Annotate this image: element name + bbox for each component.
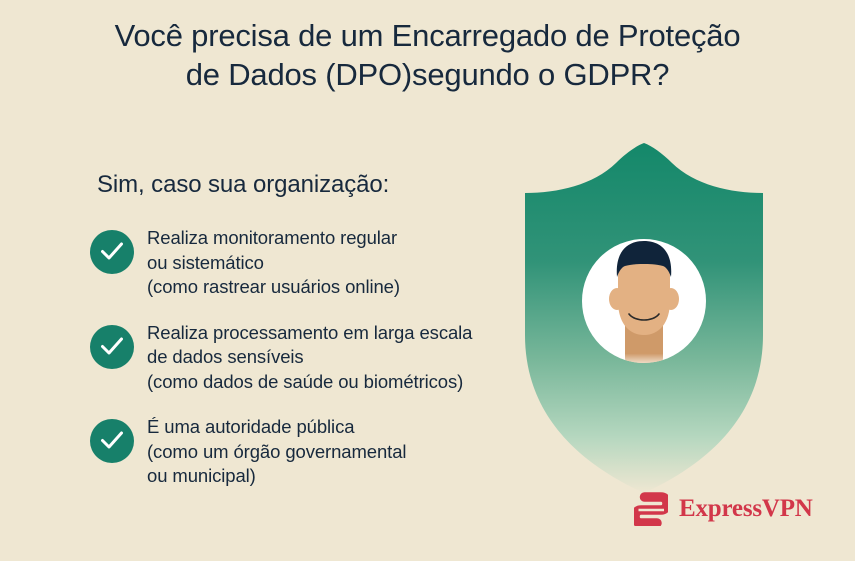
infographic-canvas: Você precisa de um Encarregado de Proteç… (0, 0, 855, 561)
list-item-label: Realiza processamento em larga escala de… (147, 320, 472, 395)
check-circle-icon (90, 230, 134, 274)
list-item: Realiza monitoramento regular ou sistemá… (90, 225, 530, 300)
list-item: É uma autoridade pública (como um órgão … (90, 414, 530, 489)
subtitle: Sim, caso sua organização: (97, 170, 389, 200)
page-title: Você precisa de um Encarregado de Proteç… (0, 16, 855, 94)
expressvpn-logo: ExpressVPN (634, 492, 813, 526)
check-circle-icon (90, 419, 134, 463)
list-item-label: Realiza monitoramento regular ou sistemá… (147, 225, 400, 300)
expressvpn-wordmark: ExpressVPN (679, 496, 813, 522)
list-item-label: É uma autoridade pública (como um órgão … (147, 414, 406, 489)
list-item: Realiza processamento em larga escala de… (90, 320, 530, 395)
security-shield-illustration (518, 143, 770, 493)
criteria-list: Realiza monitoramento regular ou sistemá… (90, 225, 530, 509)
expressvpn-e-mark-icon (634, 492, 668, 526)
check-circle-icon (90, 325, 134, 369)
